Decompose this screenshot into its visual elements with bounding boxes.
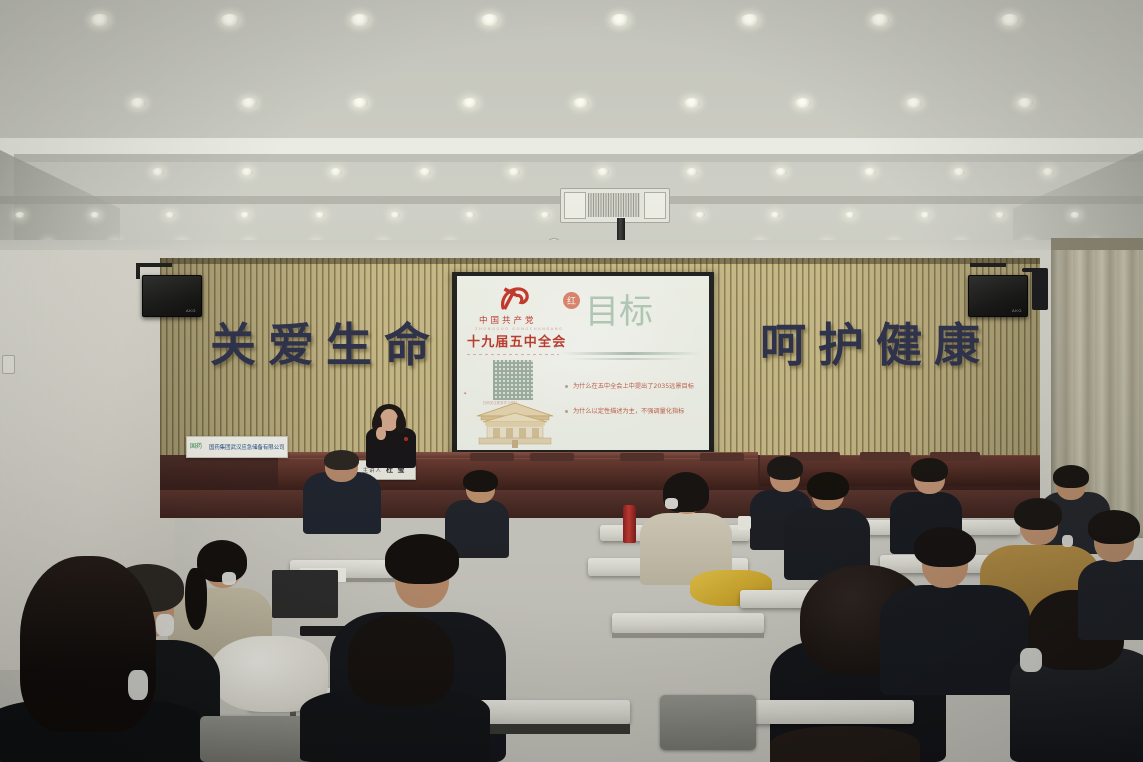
downlight-r3-8 bbox=[775, 168, 787, 175]
slide-ink-wash-line-2 bbox=[569, 358, 687, 360]
chair-front-left bbox=[200, 716, 310, 762]
presenter-lapel-badge bbox=[404, 437, 408, 441]
wall-fixture-bracket-right bbox=[1022, 268, 1048, 272]
downlight-r1-2 bbox=[221, 14, 239, 25]
dais-chair-back-2 bbox=[530, 453, 574, 461]
downlight-r3-11 bbox=[1042, 168, 1054, 175]
dais-chair-back-4 bbox=[700, 453, 744, 461]
attendee-r1-c-hair bbox=[1053, 465, 1089, 488]
downlight-r3-2 bbox=[241, 168, 253, 175]
attendee-r2-mustard-coat-mask bbox=[1062, 535, 1073, 547]
slide-headline: 十九届五中全会 bbox=[467, 336, 566, 350]
downlight-r1-8 bbox=[1001, 14, 1019, 25]
banner-logo: 国药 bbox=[190, 441, 202, 450]
downlight-r3-3 bbox=[330, 168, 342, 175]
speaker-bracket-arm-left bbox=[136, 263, 140, 279]
attendee-r3-suit-center-hair bbox=[914, 527, 976, 567]
downlight-r2-6 bbox=[684, 98, 700, 108]
slide-bullet-1-text: 为什么在五中全会上中提出了2035远景目标 bbox=[573, 383, 694, 390]
downlight-r4-4 bbox=[240, 212, 250, 218]
slide-bird-1: ✦ bbox=[463, 392, 467, 397]
wall-fixture-right bbox=[1032, 270, 1048, 310]
slide-bullet-2-text: 为什么以定性描述为主，不强调量化指标 bbox=[573, 408, 684, 415]
desk-row3-center bbox=[612, 613, 764, 633]
attendee-back-right-a-torso bbox=[1078, 560, 1143, 640]
slide-party-name-pinyin: ZHONGGUO GONGCHANDANG bbox=[475, 328, 564, 332]
downlight-r4-14 bbox=[1070, 212, 1080, 218]
speaker-brand-left: AKG bbox=[186, 308, 196, 313]
downlight-r4-13 bbox=[995, 212, 1005, 218]
attendee-r3-suit-center-left-hair bbox=[385, 534, 459, 584]
attendee-back-right-a-hair bbox=[1088, 510, 1140, 544]
red-thermos-bottle bbox=[623, 505, 636, 543]
white-paper-cup bbox=[738, 516, 751, 530]
downlight-r1-3 bbox=[351, 14, 369, 25]
downlight-r2-5 bbox=[573, 98, 589, 108]
downlight-r4-1 bbox=[15, 212, 25, 218]
downlight-r4-2 bbox=[90, 212, 100, 218]
speaker-brand-right: AKG bbox=[1012, 308, 1022, 313]
wall-slogan-left: 关爱生命 bbox=[210, 322, 442, 368]
tiananmen-gate-illustration bbox=[469, 394, 561, 448]
ceiling-band-1 bbox=[0, 138, 1143, 154]
attendee-front-dark-center-left-hair bbox=[348, 614, 454, 706]
downlight-r4-9 bbox=[695, 212, 705, 218]
downlight-r3-7 bbox=[686, 168, 698, 175]
attendee-front-long-hair-left-hair bbox=[20, 556, 156, 732]
bullet-dot-2 bbox=[565, 410, 568, 413]
attendee-r3-suit-center-torso bbox=[880, 585, 1030, 695]
attendee-r3-grey-hair-left-mask bbox=[156, 614, 174, 636]
attendee-r1-d-hair bbox=[463, 470, 498, 492]
attendee-r2-mustard-coat-hair bbox=[1014, 498, 1062, 530]
downlight-r1-6 bbox=[741, 14, 759, 25]
wood-panel-top-shadow bbox=[160, 258, 1040, 264]
light-switch-panel[interactable] bbox=[2, 355, 15, 374]
chair-front-center bbox=[660, 695, 756, 750]
conference-room-photo: 关爱生命 呵护健康 AKG AKG 中国共产党 ZHONGGUO GONGCHA… bbox=[0, 0, 1143, 762]
downlight-r3-9 bbox=[864, 168, 876, 175]
curtain-rod-track bbox=[1051, 238, 1143, 250]
attendee-front-long-hair-left-mask bbox=[128, 670, 148, 700]
head-table-attendee-hair bbox=[324, 450, 359, 470]
downlight-r3-10 bbox=[953, 168, 965, 175]
slide-bird-2: ✧ bbox=[553, 346, 557, 351]
ceiling-band-1-shadow bbox=[0, 154, 1143, 162]
speaker-bracket-right bbox=[970, 263, 1006, 267]
slide-red-seal: 红 bbox=[563, 292, 580, 309]
downlight-r1-5 bbox=[611, 14, 629, 25]
downlight-r2-8 bbox=[906, 98, 922, 108]
downlight-r4-6 bbox=[390, 212, 400, 218]
downlight-r2-4 bbox=[462, 98, 478, 108]
downlight-r4-12 bbox=[920, 212, 930, 218]
slide-calligraphy-title: 目标 bbox=[585, 284, 653, 333]
slide-ink-wash-line bbox=[561, 352, 701, 355]
dais-chair-back-3 bbox=[620, 453, 664, 461]
dais-chair-back-6 bbox=[860, 452, 910, 461]
projection-screen: 中国共产党 ZHONGGUO GONGCHANDANG 十九届五中全会 扫码关注… bbox=[457, 276, 709, 450]
slide-party-name: 中国共产党 bbox=[479, 317, 537, 326]
slide-bullet-2: 为什么以定性描述为主，不强调量化指标 bbox=[565, 406, 684, 415]
downlight-r3-4 bbox=[419, 168, 431, 175]
wall-slogan-right: 呵护健康 bbox=[760, 322, 992, 368]
downlight-r2-9 bbox=[1017, 98, 1033, 108]
company-banner: 国药 国药集团武汉应急储备有限公司 bbox=[186, 436, 288, 458]
downlight-r4-10 bbox=[770, 212, 780, 218]
downlight-r2-1 bbox=[130, 98, 146, 108]
attendee-r2-dark-suit-hair bbox=[807, 472, 849, 500]
attendee-r1-a-hair bbox=[767, 456, 803, 480]
slide-divider-dotted bbox=[467, 354, 559, 355]
attendee-r2-light-coat-mask bbox=[665, 498, 678, 509]
laptop[interactable] bbox=[272, 570, 338, 618]
presenter-hair-side-right bbox=[396, 414, 406, 434]
downlight-r4-5 bbox=[315, 212, 325, 218]
attendee-front-center-hair bbox=[770, 726, 920, 762]
wall-speaker-left: AKG bbox=[142, 275, 202, 317]
downlight-r4-8 bbox=[540, 212, 550, 218]
downlight-r2-3 bbox=[352, 98, 368, 108]
downlight-r1-4 bbox=[481, 14, 499, 25]
downlight-r1-1 bbox=[91, 14, 109, 25]
desk-row3-center-edge bbox=[612, 633, 764, 638]
downlight-r1-7 bbox=[871, 14, 889, 25]
downlight-r4-7 bbox=[465, 212, 475, 218]
screen-right-edge bbox=[709, 272, 714, 454]
attendee-r3-ponytail-left-mask bbox=[222, 572, 236, 585]
slide-bullet-1: 为什么在五中全会上中提出了2035远景目标 bbox=[565, 381, 694, 390]
downlight-r2-2 bbox=[241, 98, 257, 108]
downlight-r2-7 bbox=[795, 98, 811, 108]
wall-speaker-right: AKG bbox=[968, 275, 1028, 317]
presenter-hand-gesture bbox=[376, 427, 386, 440]
downlight-r4-11 bbox=[845, 212, 855, 218]
dais-chair-back-1 bbox=[470, 453, 514, 461]
speaker-bracket-left bbox=[136, 263, 172, 267]
downlight-r3-6 bbox=[597, 168, 609, 175]
downlight-r3-1 bbox=[152, 168, 164, 175]
attendee-front-puffer-right-mask bbox=[1020, 648, 1042, 672]
downlight-r4-3 bbox=[165, 212, 175, 218]
downlight-r3-5 bbox=[508, 168, 520, 175]
attendee-r1-b-hair bbox=[911, 458, 948, 482]
bullet-dot-1 bbox=[565, 385, 568, 388]
banner-company-name: 国药集团武汉应急储备有限公司 bbox=[209, 443, 284, 451]
attendee-r3-ponytail-left-ponytail bbox=[185, 568, 207, 630]
hammer-and-sickle-emblem bbox=[497, 284, 533, 314]
